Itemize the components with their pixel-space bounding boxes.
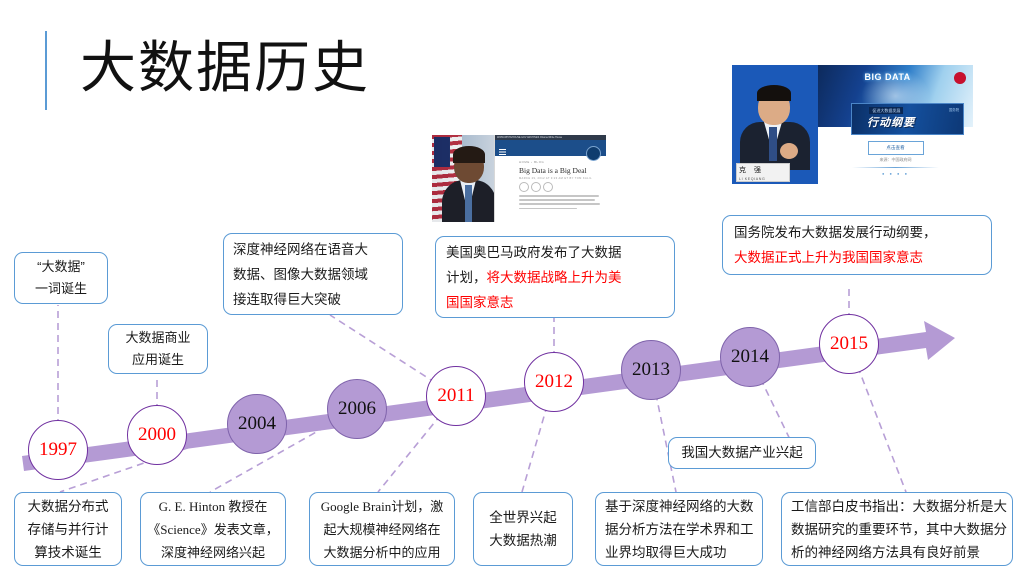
callout-line: “大数据” xyxy=(15,256,107,278)
text-run: 深度神经网络在语音大 xyxy=(233,242,368,257)
callout-line: 数据研究的重要环节，其中大数据分 xyxy=(791,518,1003,541)
hamburger-menu-icon[interactable] xyxy=(499,149,506,155)
divider xyxy=(852,167,939,168)
text-run: 起大规模神经网络在 xyxy=(323,522,440,537)
text-run: 据分析方法在学术界和工 xyxy=(605,522,754,537)
callout-line: 大数据正式上升为我国国家意志 xyxy=(734,245,980,270)
text-run: 美国奥巴马政府发布了大数据 xyxy=(446,245,622,260)
callout-line: 国国家意志 xyxy=(446,290,664,315)
text-run: 数据、图像大数据领域 xyxy=(233,267,368,282)
premier-portrait-image: 克 强 LI KEQIANG xyxy=(732,65,818,184)
text-run: 《Science》发表文章， xyxy=(147,522,278,537)
callout-line: 大数据商业 xyxy=(109,327,207,349)
callout-line: G. E. Hinton 教授在 xyxy=(141,495,285,518)
nameplate-name-en: LI KEQIANG xyxy=(739,177,765,181)
text-run: 接连取得巨大突破 xyxy=(233,292,341,307)
text-run: 国务院发布大数据发展行动纲要， xyxy=(734,225,937,240)
callout-line: 深度神经网络在语音大 xyxy=(233,237,393,262)
text-run: 国国家意志 xyxy=(446,295,514,310)
callout-line: 《Science》发表文章， xyxy=(141,518,285,541)
portrait-hair xyxy=(757,85,791,101)
timeline-node-2006[interactable]: 2006 xyxy=(327,379,387,439)
timeline-node-2012[interactable]: 2012 xyxy=(524,352,584,412)
article-headline: Big Data is a Big Deal xyxy=(519,166,587,175)
timeline-node-2013[interactable]: 2013 xyxy=(621,340,681,400)
twitter-share-icon[interactable] xyxy=(519,182,529,192)
text-run: 大数据分布式 xyxy=(28,499,109,514)
callout-dnn-analysis-success[interactable]: 基于深度神经网络的大数据分析方法在学术界和工业界均取得巨大成功 xyxy=(595,492,763,566)
portrait-hand xyxy=(780,143,798,159)
timeline-node-2000[interactable]: 2000 xyxy=(127,405,187,465)
callout-worldwide-bigdata-wave[interactable]: 全世界兴起大数据热潮 xyxy=(473,492,573,566)
text-run: 数据研究的重要环节，其中大数据分 xyxy=(791,522,1007,537)
national-emblem-icon xyxy=(954,72,966,84)
nameplate-name-cn: 克 强 xyxy=(739,165,764,175)
callout-line: 应用诞生 xyxy=(109,349,207,371)
timeline-node-2011[interactable]: 2011 xyxy=(426,366,486,426)
banner-subtitle: 促进大数据发展 xyxy=(869,107,903,114)
text-run: 将大数据战略上升为美 xyxy=(487,270,622,285)
callout-china-bigdata-industry[interactable]: 我国大数据产业兴起 xyxy=(668,437,816,469)
callout-line: 数据、图像大数据领域 xyxy=(233,262,393,287)
text-run: G. E. Hinton 教授在 xyxy=(159,499,268,514)
callout-distributed-storage[interactable]: 大数据分布式存储与并行计算技术诞生 xyxy=(14,492,122,566)
timeline-node-2004[interactable]: 2004 xyxy=(227,394,287,454)
text-run: “大数据” xyxy=(37,259,85,274)
flag-union-icon xyxy=(434,137,450,167)
whitehouse-webpage: WWW.WHITEHOUSE.GOV ARCHIVES Obama White … xyxy=(494,135,606,222)
action-outline-banner: 促进大数据发展 行动纲要 国务院 xyxy=(851,103,965,135)
timeline-node-2014[interactable]: 2014 xyxy=(720,327,780,387)
timeline-node-2015[interactable]: 2015 xyxy=(819,314,879,374)
browser-url-text: WWW.WHITEHOUSE.GOV ARCHIVES Obama White … xyxy=(497,136,562,139)
carousel-dots[interactable]: ● ● ● ● xyxy=(882,171,909,176)
callout-miit-white-paper[interactable]: 工信部白皮书指出：大数据分析是大数据研究的重要环节，其中大数据分析的神经网络方法… xyxy=(781,492,1013,566)
callout-line: 美国奥巴马政府发布了大数据 xyxy=(446,240,664,265)
callout-line: 业界均取得巨大成功 xyxy=(605,541,753,564)
view-details-button[interactable]: 点击查看 xyxy=(868,141,924,155)
callout-line: 存储与并行计 xyxy=(15,518,121,541)
text-run: 大数据正式上升为我国国家意志 xyxy=(734,250,923,265)
callout-state-council-action-outline[interactable]: 国务院发布大数据发展行动纲要，大数据正式上升为我国国家意志 xyxy=(722,215,992,275)
callout-line: 工信部白皮书指出：大数据分析是大 xyxy=(791,495,1003,518)
text-run: 大数据分析中的应用 xyxy=(323,545,440,560)
timeline-node-1997[interactable]: 1997 xyxy=(28,420,88,480)
breadcrumb: HOME › BLOG xyxy=(519,160,544,164)
callout-line: 大数据热潮 xyxy=(474,529,572,552)
callout-bigdata-term-born[interactable]: “大数据”一词诞生 xyxy=(14,252,108,304)
facebook-share-icon[interactable] xyxy=(531,182,541,192)
callout-line: 据分析方法在学术界和工 xyxy=(605,518,753,541)
obama-portrait-image xyxy=(432,135,494,222)
text-run: 存储与并行计 xyxy=(28,522,109,537)
text-run: 析的神经网络方法具有良好前景 xyxy=(791,545,980,560)
callout-obama-bigdata-initiative[interactable]: 美国奥巴马政府发布了大数据计划，将大数据战略上升为美国国家意志 xyxy=(435,236,675,318)
banner-title: 行动纲要 xyxy=(867,114,915,130)
text-run: 一词诞生 xyxy=(35,281,87,296)
text-run: 大数据热潮 xyxy=(489,533,557,548)
callout-hinton-science-paper[interactable]: G. E. Hinton 教授在《Science》发表文章，深度神经网络兴起 xyxy=(140,492,286,566)
callout-line: 算技术诞生 xyxy=(15,541,121,564)
slide-canvas: 大数据历史 1997 2000 2004 2006 2011 2012 xyxy=(0,0,1024,576)
text-run: Google Brain计划，激 xyxy=(321,499,443,514)
text-run: 工信部白皮书指出：大数据分析是大 xyxy=(791,499,1007,514)
banner-tag: 国务院 xyxy=(949,107,959,112)
text-run: 算技术诞生 xyxy=(34,545,102,560)
article-body-text xyxy=(519,195,602,212)
site-navbar xyxy=(495,140,606,156)
photo-state-council-bigdata-outline: 克 强 LI KEQIANG BIG DATA 促进大数据发展 行动纲要 国务院… xyxy=(732,65,973,184)
callout-line: 析的神经网络方法具有良好前景 xyxy=(791,541,1003,564)
portrait-tie xyxy=(465,185,472,222)
callout-line: 一词诞生 xyxy=(15,278,107,300)
callout-line: 全世界兴起 xyxy=(474,506,572,529)
text-run: 应用诞生 xyxy=(132,352,184,367)
text-run: 基于深度神经网络的大数 xyxy=(605,499,754,514)
callout-dnn-breakthrough[interactable]: 深度神经网络在语音大数据、图像大数据领域接连取得巨大突破 xyxy=(223,233,403,315)
text-run: 全世界兴起 xyxy=(489,510,557,525)
callout-bigdata-commercial[interactable]: 大数据商业应用诞生 xyxy=(108,324,208,374)
callout-line: 我国大数据产业兴起 xyxy=(669,442,815,464)
portrait-hair xyxy=(453,146,485,163)
article-byline: MARCH 29, 2012 AT 9:23 AM ET BY TOM KALI… xyxy=(519,177,592,180)
text-run: 深度神经网络兴起 xyxy=(161,545,265,560)
text-run: 大数据商业 xyxy=(125,330,190,345)
callout-google-brain[interactable]: Google Brain计划，激起大规模神经网络在大数据分析中的应用 xyxy=(309,492,455,566)
callout-line: 基于深度神经网络的大数 xyxy=(605,495,753,518)
white-house-seal-icon xyxy=(586,146,601,161)
callout-line: 国务院发布大数据发展行动纲要， xyxy=(734,220,980,245)
hero-bigdata-text: BIG DATA xyxy=(865,73,911,82)
text-run: 计划， xyxy=(446,270,487,285)
callout-line: 计划，将大数据战略上升为美 xyxy=(446,265,664,290)
gov-webpage: BIG DATA 促进大数据发展 行动纲要 国务院 点击查看 来源：中国政府网 … xyxy=(818,65,973,184)
callout-line: 大数据分析中的应用 xyxy=(310,541,454,564)
text-run: 业界均取得巨大成功 xyxy=(605,545,727,560)
email-share-icon[interactable] xyxy=(543,182,553,192)
callout-line: 起大规模神经网络在 xyxy=(310,518,454,541)
source-caption: 来源：中国政府网 xyxy=(880,157,912,163)
callout-line: 接连取得巨大突破 xyxy=(233,287,393,312)
callout-line: 大数据分布式 xyxy=(15,495,121,518)
text-run: 我国大数据产业兴起 xyxy=(681,445,803,460)
photo-obama-big-data-article: WWW.WHITEHOUSE.GOV ARCHIVES Obama White … xyxy=(432,135,606,222)
callout-line: 深度神经网络兴起 xyxy=(141,541,285,564)
portrait-tie xyxy=(769,127,777,161)
callout-line: Google Brain计划，激 xyxy=(310,495,454,518)
